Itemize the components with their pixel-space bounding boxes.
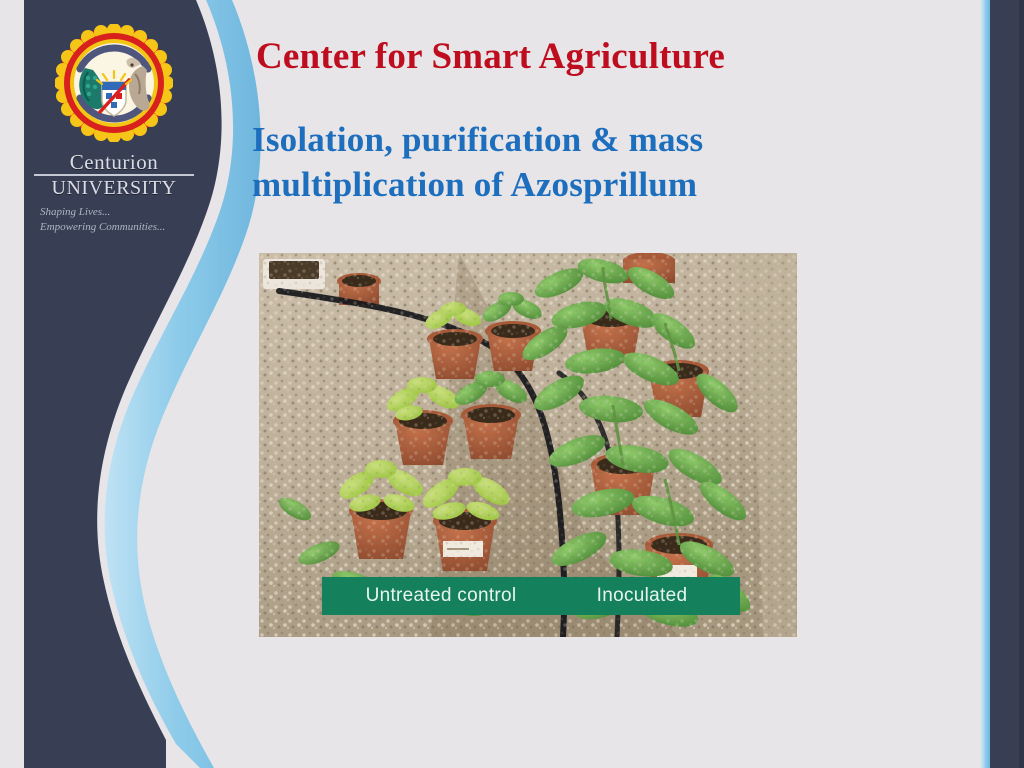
centurion-university-crest-icon <box>55 24 173 142</box>
slide-title-sub: Isolation, purification & mass multiplic… <box>252 118 952 208</box>
university-tagline: Shaping Lives... Empowering Communities.… <box>34 205 194 235</box>
slide-title-main: Center for Smart Agriculture <box>256 38 956 75</box>
right-navy-band <box>990 0 1024 768</box>
university-name-line2: UNIVERSITY <box>34 178 194 198</box>
right-blue-accent-band <box>980 0 990 768</box>
photo-caption-inoculated: Inoculated <box>544 577 740 615</box>
tagline-line1: Shaping Lives... <box>40 205 194 220</box>
trial-photograph: Untreated control Inoculated <box>259 253 797 637</box>
university-logo-block: Centurion UNIVERSITY Shaping Lives... Em… <box>34 24 194 235</box>
presentation-slide: Centurion UNIVERSITY Shaping Lives... Em… <box>0 0 1024 768</box>
university-name-line1: Centurion <box>34 152 194 176</box>
tagline-line2: Empowering Communities... <box>40 220 194 235</box>
slide-title-sub-line2: multiplication of Azosprillum <box>252 163 952 208</box>
university-name: Centurion UNIVERSITY <box>34 152 194 198</box>
slide-title-sub-line1: Isolation, purification & mass <box>252 118 952 163</box>
photo-caption-untreated-control: Untreated control <box>322 577 560 615</box>
